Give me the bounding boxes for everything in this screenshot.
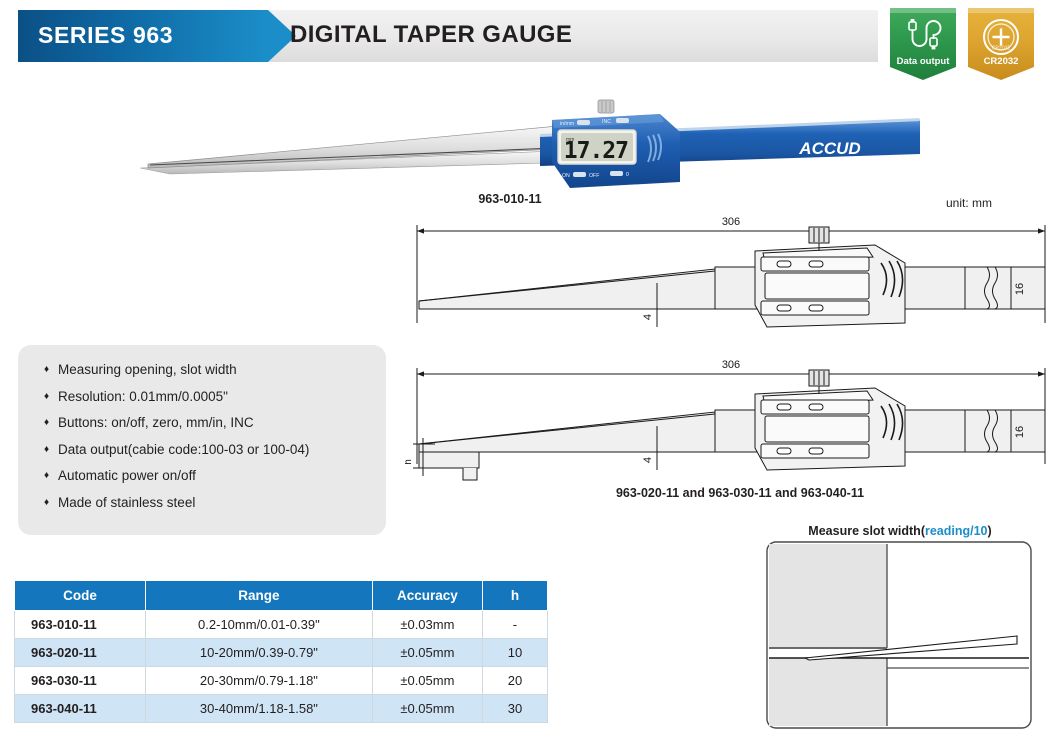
cell-range: 10-20mm/0.39-0.79" [145, 639, 372, 667]
feature-item: ♦ Automatic power on/off [44, 467, 374, 485]
features-panel: ♦ Measuring opening, slot width ♦ Resolu… [18, 345, 386, 535]
svg-text:0: 0 [626, 172, 629, 178]
svg-text:in/mm: in/mm [560, 121, 574, 127]
table-row: 963-020-11 10-20mm/0.39-0.79" ±0.05mm 10 [15, 639, 548, 667]
table-header-row: Code Range Accuracy h [15, 581, 548, 611]
drawing-caption-bottom: 963-020-11 and 963-030-11 and 963-040-11 [455, 486, 1025, 500]
cell-code: 963-010-11 [15, 611, 146, 639]
slot-title-end: ) [988, 524, 992, 538]
series-label: SERIES 963 [38, 22, 268, 49]
specification-table: Code Range Accuracy h 963-010-11 0.2-10m… [14, 580, 548, 723]
feature-item: ♦ Made of stainless steel [44, 494, 374, 512]
bullet-diamond-icon: ♦ [44, 361, 58, 379]
product-photo: ACCUD mm 17.27 in/mm INC ON OFF 0 [140, 92, 920, 200]
dim-length: 306 [722, 216, 740, 228]
feature-item: ♦ Measuring opening, slot width [44, 361, 374, 379]
badge-top-highlight [890, 8, 956, 13]
cell-h: 20 [482, 667, 547, 695]
cell-accuracy: ±0.03mm [372, 611, 482, 639]
page-header: SERIES 963 DIGITAL TAPER GAUGE Data outp… [0, 0, 1061, 88]
badge-label: Data output [890, 56, 956, 67]
slot-title-main: Measure slot width( [808, 524, 925, 538]
badge-top-highlight [968, 8, 1034, 13]
cell-range: 30-40mm/1.18-1.58" [145, 695, 372, 723]
svg-text:ON: ON [562, 173, 570, 179]
bullet-diamond-icon: ♦ [44, 467, 58, 485]
slot-measure-diagram [765, 540, 1033, 730]
cell-h: 30 [482, 695, 547, 723]
dim-length: 306 [722, 359, 740, 371]
feature-text: Measuring opening, slot width [58, 361, 237, 379]
dim-thickness: 4 [642, 314, 654, 320]
cell-h: 10 [482, 639, 547, 667]
coin-battery-icon: CR2032 [968, 17, 1034, 57]
column-header-accuracy: Accuracy [372, 581, 482, 611]
badge-label: CR2032 [968, 56, 1034, 67]
cell-accuracy: ±0.05mm [372, 639, 482, 667]
cell-accuracy: ±0.05mm [372, 667, 482, 695]
cell-range: 0.2-10mm/0.01-0.39" [145, 611, 372, 639]
usb-cable-icon [890, 17, 956, 57]
column-header-range: Range [145, 581, 372, 611]
column-header-h: h [482, 581, 547, 611]
bullet-diamond-icon: ♦ [44, 414, 58, 432]
table-row: 963-040-11 30-40mm/1.18-1.58" ±0.05mm 30 [15, 695, 548, 723]
slot-title-highlight: reading/10 [925, 524, 988, 538]
feature-item: ♦ Data output(cabie code:100-03 or 100-0… [44, 441, 374, 459]
cell-code: 963-040-11 [15, 695, 146, 723]
feature-text: Data output(cabie code:100-03 or 100-04) [58, 441, 309, 459]
technical-drawing-bottom: 306 4 16 h [405, 352, 1055, 492]
svg-text:CR2032: CR2032 [992, 46, 1011, 52]
page-title: DIGITAL TAPER GAUGE [290, 21, 572, 49]
cell-code: 963-020-11 [15, 639, 146, 667]
photo-caption: 963-010-11 [340, 192, 680, 206]
bullet-diamond-icon: ♦ [44, 388, 58, 406]
feature-text: Resolution: 0.01mm/0.0005" [58, 388, 228, 406]
bullet-diamond-icon: ♦ [44, 441, 58, 459]
brand-logo: ACCUD [798, 139, 860, 158]
feature-text: Buttons: on/off, zero, mm/in, INC [58, 414, 254, 432]
svg-text:INC: INC [602, 119, 611, 125]
feature-text: Made of stainless steel [58, 494, 195, 512]
cell-h: - [482, 611, 547, 639]
technical-drawing-top: 306 4 16 [405, 205, 1055, 340]
table-row: 963-010-11 0.2-10mm/0.01-0.39" ±0.03mm - [15, 611, 548, 639]
cell-code: 963-030-11 [15, 667, 146, 695]
lcd-value: 17.27 [564, 138, 628, 164]
dim-thickness: 4 [642, 457, 654, 463]
dim-h: h [405, 459, 414, 465]
badge-data-output: Data output [890, 8, 956, 80]
cell-accuracy: ±0.05mm [372, 695, 482, 723]
feature-text: Automatic power on/off [58, 467, 196, 485]
feature-item: ♦ Buttons: on/off, zero, mm/in, INC [44, 414, 374, 432]
badge-battery-type: CR2032 CR2032 [968, 8, 1034, 80]
column-header-code: Code [15, 581, 146, 611]
cell-range: 20-30mm/0.79-1.18" [145, 667, 372, 695]
slot-diagram-title: Measure slot width(reading/10) [740, 524, 1060, 538]
features-list: ♦ Measuring opening, slot width ♦ Resolu… [44, 361, 374, 520]
feature-item: ♦ Resolution: 0.01mm/0.0005" [44, 388, 374, 406]
bullet-diamond-icon: ♦ [44, 494, 58, 512]
table-row: 963-030-11 20-30mm/0.79-1.18" ±0.05mm 20 [15, 667, 548, 695]
dim-height: 16 [1014, 283, 1026, 295]
dim-height: 16 [1014, 426, 1026, 438]
svg-text:OFF: OFF [589, 173, 599, 179]
